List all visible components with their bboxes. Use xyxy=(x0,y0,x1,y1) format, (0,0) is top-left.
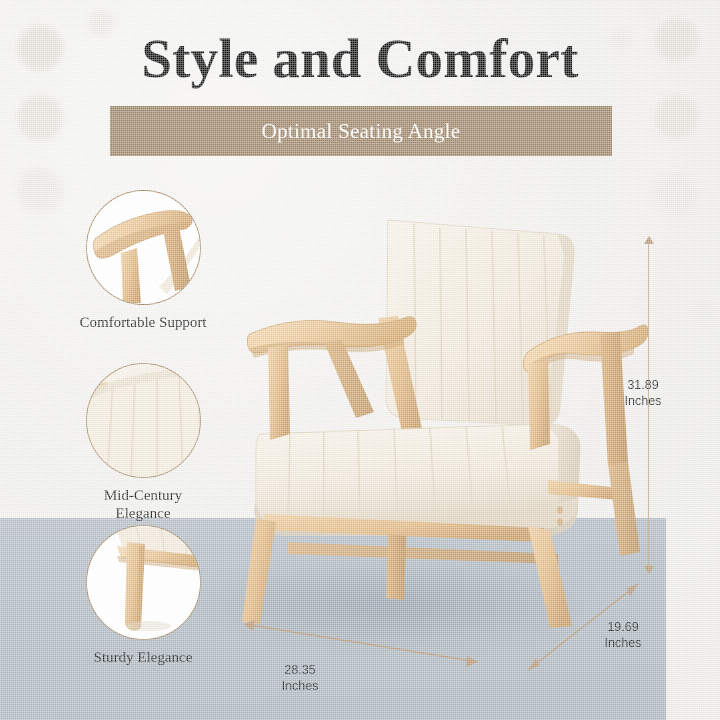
feature-mid-century-elegance[interactable]: Mid-Century Elegance xyxy=(78,363,208,524)
subtitle-banner-text: Optimal Seating Angle xyxy=(262,119,461,144)
subtitle-banner: Optimal Seating Angle xyxy=(110,106,612,156)
feature-comfortable-support[interactable]: Comfortable Support xyxy=(78,190,208,332)
feature-image-cushion-detail xyxy=(86,363,201,478)
product-image-armchair xyxy=(228,212,648,632)
page-title: Style and Comfort xyxy=(0,30,720,88)
dimension-width-label: 28.35 Inches xyxy=(265,663,335,694)
decorative-dot xyxy=(655,172,699,216)
decorative-dot xyxy=(690,300,718,328)
feature-sturdy-elegance[interactable]: Sturdy Elegance xyxy=(78,525,208,667)
feature-label: Sturdy Elegance xyxy=(78,649,208,667)
dimension-depth-label: 19.69 Inches xyxy=(590,620,656,651)
feature-label: Comfortable Support xyxy=(78,314,208,332)
decorative-dot xyxy=(17,167,63,213)
decorative-dot xyxy=(17,95,63,141)
feature-image-armrest-detail xyxy=(86,190,201,305)
dimension-height-arrow-top xyxy=(644,236,654,244)
dimension-height-label: 31.89 Inches xyxy=(612,378,674,409)
infographic-canvas: Style and Comfort Optimal Seating Angle … xyxy=(0,0,720,720)
feature-label: Mid-Century Elegance xyxy=(78,487,208,524)
feature-image-leg-detail xyxy=(86,525,201,640)
decorative-dot xyxy=(655,95,699,139)
